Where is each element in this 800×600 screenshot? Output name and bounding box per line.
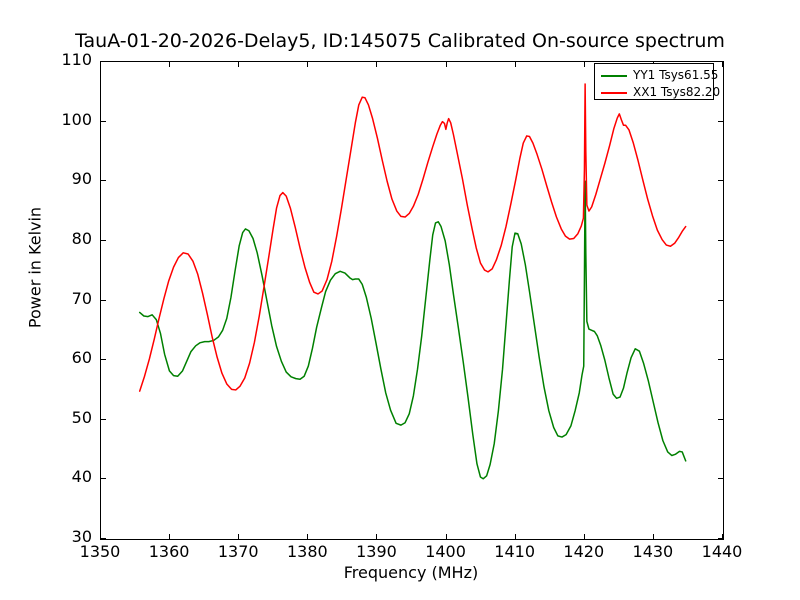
x-tick-mark-top — [307, 62, 308, 67]
x-tick-label: 1380 — [277, 544, 337, 560]
x-axis-label: Frequency (MHz) — [100, 563, 722, 582]
y-tick-mark-right — [718, 121, 723, 122]
x-tick-label: 1350 — [70, 544, 130, 560]
y-tick-mark — [101, 419, 106, 420]
x-tick-mark-top — [376, 62, 377, 67]
y-tick-mark — [101, 359, 106, 360]
y-tick-mark — [101, 180, 106, 181]
x-tick-label: 1410 — [485, 544, 545, 560]
x-tick-mark — [584, 534, 585, 539]
y-tick-label: 100 — [32, 112, 92, 128]
y-tick-mark — [101, 121, 106, 122]
y-tick-mark-right — [718, 180, 723, 181]
x-tick-label: 1400 — [416, 544, 476, 560]
y-tick-mark-right — [718, 359, 723, 360]
y-tick-label: 50 — [32, 410, 92, 426]
y-tick-mark-right — [718, 478, 723, 479]
x-tick-mark-top — [515, 62, 516, 67]
x-tick-label: 1430 — [623, 544, 683, 560]
x-tick-mark-top — [446, 62, 447, 67]
y-tick-mark — [101, 240, 106, 241]
y-tick-mark-right — [718, 419, 723, 420]
legend-swatch — [601, 92, 627, 94]
x-tick-mark-top — [169, 62, 170, 67]
legend-item[interactable]: YY1 Tsys61.55 — [595, 67, 715, 85]
x-tick-mark — [446, 534, 447, 539]
x-tick-label: 1360 — [139, 544, 199, 560]
y-tick-mark — [101, 478, 106, 479]
legend-box: YY1 Tsys61.55XX1 Tsys82.20 — [594, 63, 714, 100]
x-tick-mark-top — [238, 62, 239, 67]
y-tick-mark — [101, 61, 106, 62]
x-tick-mark-top — [100, 62, 101, 67]
plot-svg — [101, 62, 723, 539]
legend-label: YY1 Tsys61.55 — [633, 68, 718, 82]
x-tick-mark — [238, 534, 239, 539]
plot-area — [100, 61, 724, 540]
y-tick-mark-right — [718, 240, 723, 241]
x-tick-label: 1390 — [346, 544, 406, 560]
series-group — [140, 84, 686, 479]
x-tick-mark — [722, 534, 723, 539]
series-line-1 — [140, 181, 686, 479]
x-tick-mark — [100, 534, 101, 539]
legend-swatch — [601, 75, 627, 77]
chart-figure: TauA-01-20-2026-Delay5, ID:145075 Calibr… — [0, 0, 800, 600]
y-axis-label: Power in Kelvin — [26, 128, 45, 408]
legend-label: XX1 Tsys82.20 — [633, 85, 720, 99]
x-tick-mark — [653, 534, 654, 539]
chart-title: TauA-01-20-2026-Delay5, ID:145075 Calibr… — [0, 30, 800, 52]
y-tick-label: 110 — [32, 52, 92, 68]
x-tick-label: 1440 — [692, 544, 752, 560]
y-tick-mark — [101, 538, 106, 539]
x-tick-mark — [515, 534, 516, 539]
x-tick-mark — [169, 534, 170, 539]
x-tick-label: 1420 — [554, 544, 614, 560]
series-line-2 — [140, 84, 686, 391]
x-tick-mark-top — [722, 62, 723, 67]
x-tick-mark — [307, 534, 308, 539]
y-tick-label: 40 — [32, 469, 92, 485]
x-tick-mark — [376, 534, 377, 539]
y-tick-mark — [101, 300, 106, 301]
legend-item[interactable]: XX1 Tsys82.20 — [595, 84, 715, 102]
x-tick-mark-top — [584, 62, 585, 67]
x-tick-label: 1370 — [208, 544, 268, 560]
y-tick-mark-right — [718, 300, 723, 301]
